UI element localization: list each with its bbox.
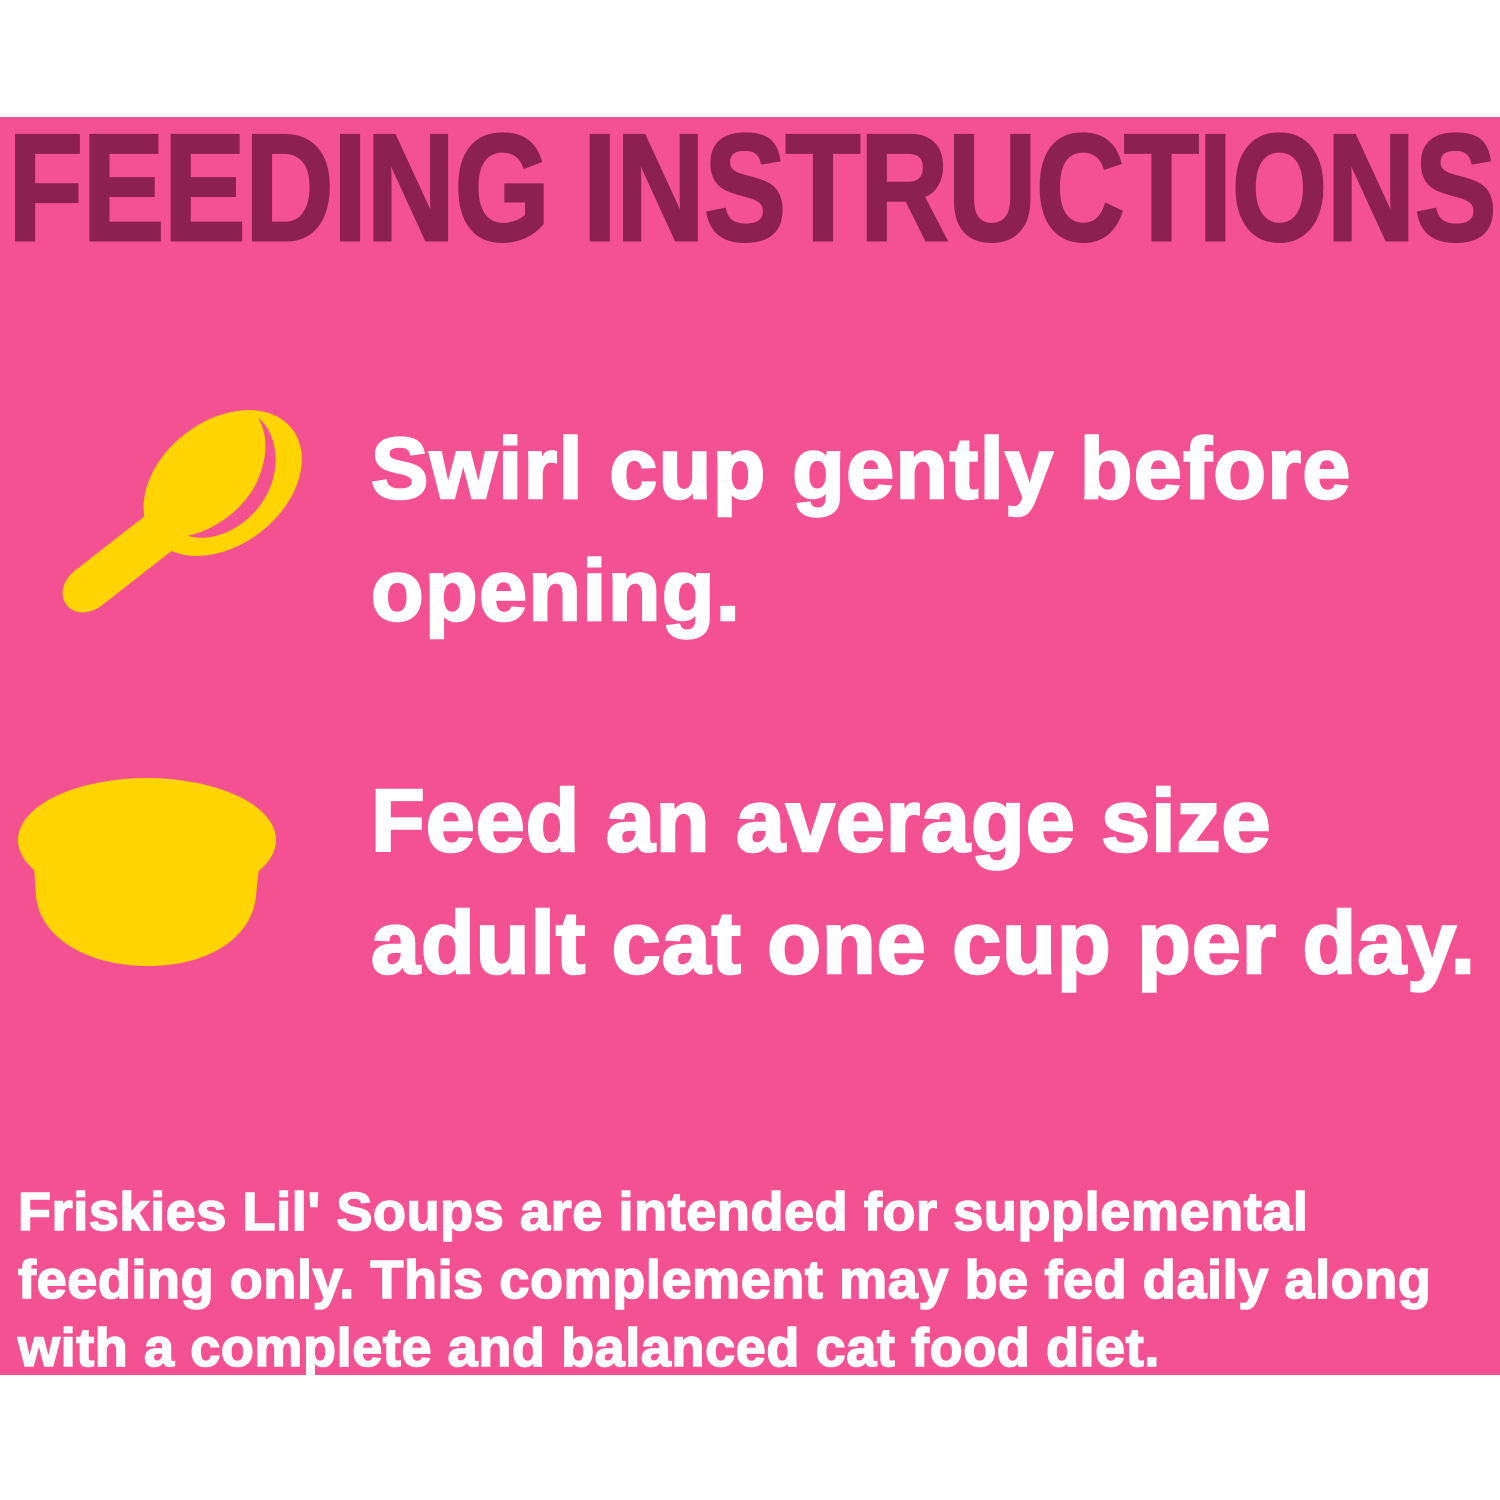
page-title: FEEDING INSTRUCTIONS <box>8 118 1216 258</box>
instruction-text-swirl: Swirl cup gently before opening. <box>371 408 1496 652</box>
instruction-text-feed: Feed an average size adult cat one cup p… <box>371 760 1496 1004</box>
spoon-icon <box>0 408 330 648</box>
instruction-row-swirl: Swirl cup gently before opening. <box>0 408 1500 668</box>
instruction-row-feed: Feed an average size adult cat one cup p… <box>0 760 1500 1020</box>
footer-line-1: Friskies Lil' Soups are intended for sup… <box>18 1178 1486 1246</box>
footer-line-2: feeding only. This complement may be fed… <box>18 1246 1486 1314</box>
footer-line-3: with a complete and balanced cat food di… <box>18 1314 1486 1382</box>
bowl-icon <box>0 760 330 1000</box>
feeding-instructions-panel: FEEDING INSTRUCTIONS Swirl cup gently be… <box>0 0 1500 1500</box>
footer-disclaimer: Friskies Lil' Soups are intended for sup… <box>18 1178 1486 1382</box>
